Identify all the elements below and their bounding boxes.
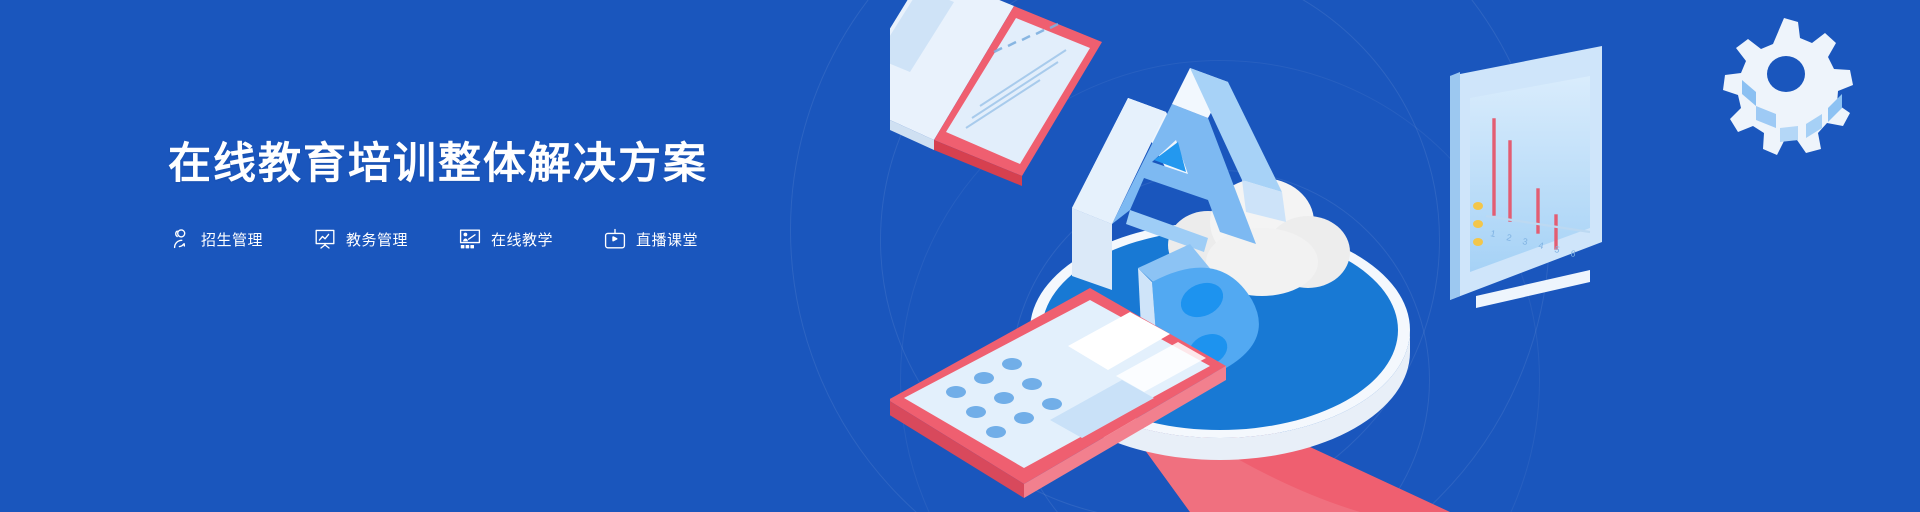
open-book: [890, 0, 1102, 186]
feature-label: 招生管理: [201, 229, 263, 250]
svg-text:4: 4: [1538, 240, 1545, 251]
decorative-ring: [1010, 170, 1430, 512]
feature-label: 教务管理: [346, 229, 408, 250]
letter-b-3d: [1138, 244, 1259, 376]
svg-text:1: 1: [1490, 228, 1497, 239]
decorative-ring: [880, 0, 1440, 512]
presentation-chart-icon: [313, 227, 337, 251]
feature-label: 在线教学: [491, 229, 553, 250]
feature-list: 招生管理 教务管理: [168, 227, 868, 251]
monitor-bar-chart: 1 2 3 4 5 6: [1450, 46, 1602, 308]
circular-platform: [1030, 222, 1450, 512]
tablet-device: [890, 288, 1226, 498]
feature-item-online-teaching[interactable]: 在线教学: [458, 227, 553, 251]
svg-text:6: 6: [1570, 248, 1577, 259]
tv-play-icon: [603, 227, 627, 251]
gear-icon: [1723, 18, 1853, 155]
svg-text:5: 5: [1554, 244, 1561, 255]
teacher-whiteboard-icon: [458, 227, 482, 251]
letter-a-3d: [1072, 68, 1286, 290]
education-banner: 在线教育培训整体解决方案 招生管理: [0, 0, 1920, 512]
svg-text:3: 3: [1522, 236, 1529, 247]
feature-item-enrollment[interactable]: 招生管理: [168, 227, 263, 251]
decorative-ring: [790, 0, 1550, 512]
user-group-icon: [168, 227, 192, 251]
decorative-ring: [900, 60, 1540, 512]
education-illustration: 1 2 3 4 5 6: [890, 0, 1920, 512]
banner-text-block: 在线教育培训整体解决方案 招生管理: [168, 140, 868, 251]
feature-item-live-classroom[interactable]: 直播课堂: [603, 227, 698, 251]
cloud-large: [1168, 178, 1350, 296]
svg-text:2: 2: [1506, 232, 1513, 243]
feature-item-academic-affairs[interactable]: 教务管理: [313, 227, 408, 251]
page-title: 在线教育培训整体解决方案: [168, 140, 868, 189]
feature-label: 直播课堂: [636, 229, 698, 250]
